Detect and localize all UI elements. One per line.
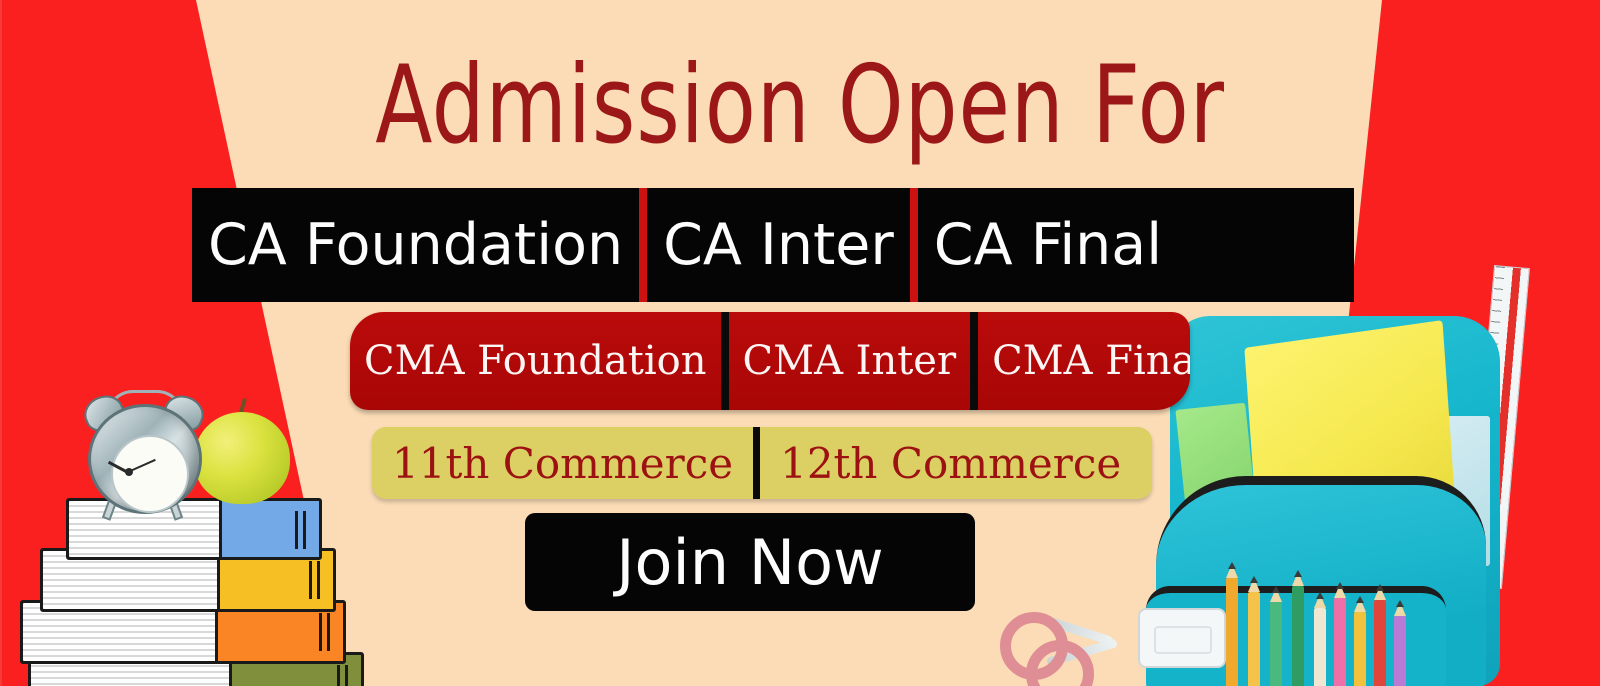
books-illustration xyxy=(18,352,388,686)
eraser-icon xyxy=(1138,608,1226,668)
book-ticks xyxy=(295,511,309,549)
pencil-icon xyxy=(1292,586,1304,686)
pencil-icon xyxy=(1226,578,1238,686)
commerce-courses-row: 11th Commerce 12th Commerce xyxy=(372,427,1152,499)
row-divider xyxy=(970,312,978,410)
join-now-button[interactable]: Join Now xyxy=(525,513,975,611)
pencil-icon xyxy=(1354,612,1366,686)
row-divider xyxy=(639,188,647,302)
row-divider xyxy=(721,312,729,410)
pencil-icon xyxy=(1374,600,1386,686)
course-ca-final[interactable]: CA Final xyxy=(918,188,1178,302)
clock-body xyxy=(88,404,202,514)
clock-center-pin xyxy=(125,468,133,476)
book-ticks xyxy=(337,665,351,686)
course-cma-inter[interactable]: CMA Inter xyxy=(729,312,971,410)
pencils-group xyxy=(1222,546,1432,686)
alarm-clock-icon xyxy=(84,390,202,508)
book-ticks xyxy=(319,613,333,651)
backpack-illustration xyxy=(1130,256,1600,686)
scissors-icon xyxy=(1000,604,1120,684)
pencil-icon xyxy=(1334,598,1346,686)
admission-banner: Admission Open For CA Foundation CA Inte… xyxy=(0,0,1600,686)
cma-courses-row: CMA Foundation CMA Inter CMA Final xyxy=(350,312,1190,410)
course-11th-commerce[interactable]: 11th Commerce xyxy=(372,427,753,499)
pencil-icon xyxy=(1394,616,1406,686)
book-ticks xyxy=(309,561,323,599)
clock-face xyxy=(111,435,189,513)
course-ca-inter[interactable]: CA Inter xyxy=(647,188,910,302)
row-divider xyxy=(753,427,760,499)
ca-courses-row: CA Foundation CA Inter CA Final xyxy=(192,188,1354,302)
pencil-icon xyxy=(1248,592,1260,686)
pencil-icon xyxy=(1314,608,1326,686)
course-cma-foundation[interactable]: CMA Foundation xyxy=(350,312,721,410)
pencil-icon xyxy=(1270,602,1282,686)
row-divider xyxy=(910,188,918,302)
course-12th-commerce[interactable]: 12th Commerce xyxy=(760,427,1141,499)
course-cma-final[interactable]: CMA Final xyxy=(978,312,1190,410)
apple-icon xyxy=(194,412,290,504)
page-title: Admission Open For xyxy=(112,52,1488,160)
course-ca-foundation[interactable]: CA Foundation xyxy=(192,188,639,302)
